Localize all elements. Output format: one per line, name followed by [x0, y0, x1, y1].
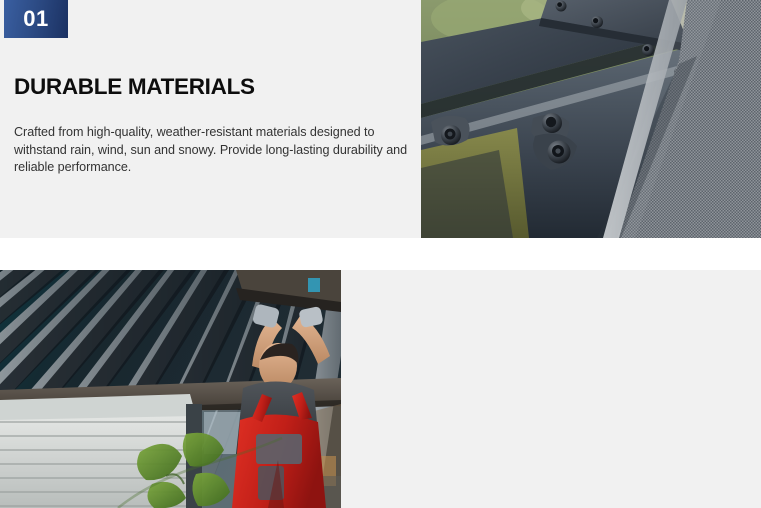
feature-panel-1: 01 DURABLE MATERIALS Crafted from high-q…	[0, 0, 761, 238]
feature-2-text-column: 02 EASY ASSEMBLY Featuring user-friendly…	[341, 270, 761, 508]
feature-panel-2: 02 EASY ASSEMBLY Featuring user-friendly…	[0, 270, 761, 508]
feature-1-number-badge: 01	[4, 0, 68, 38]
feature-1-number-label: 01	[23, 8, 48, 30]
feature-1-body-text: Crafted from high-quality, weather-resis…	[14, 124, 410, 177]
feature-1-photo	[421, 0, 761, 238]
feature-panels-page: 01 DURABLE MATERIALS Crafted from high-q…	[0, 0, 761, 508]
feature-1-text-column: 01 DURABLE MATERIALS Crafted from high-q…	[0, 0, 421, 238]
feature-1-title: DURABLE MATERIALS	[14, 74, 255, 100]
feature-2-photo	[0, 270, 341, 508]
